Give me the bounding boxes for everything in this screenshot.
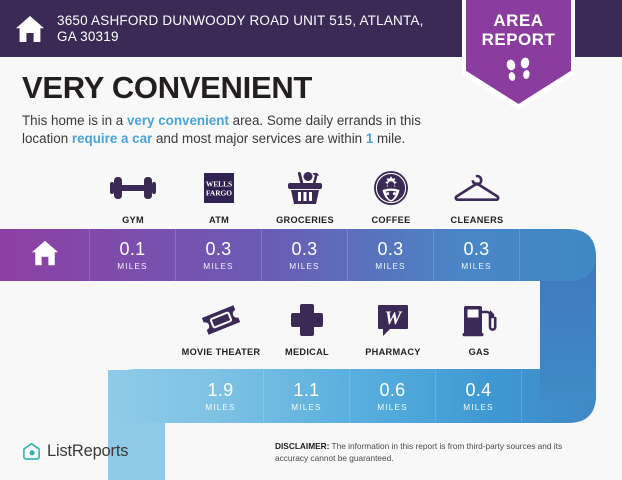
distance-value: 0.1	[120, 240, 146, 259]
row2-value-row: 1.9 MILES 1.1 MILES 0.6 MILES 0.4 MILES	[178, 370, 522, 422]
listreports-logo-icon	[22, 442, 41, 461]
category-pharmacy[interactable]: W PHARMACY	[350, 300, 436, 357]
category-label: ATM	[209, 215, 229, 225]
badge-line-2: REPORT	[466, 30, 571, 49]
distance-unit: MILES	[377, 402, 407, 412]
distance-cell-atm: 0.3 MILES	[176, 229, 262, 281]
hanger-icon	[453, 168, 501, 208]
distance-unit: MILES	[461, 261, 491, 271]
home-icon	[30, 238, 60, 273]
category-label: GROCERIES	[276, 215, 334, 225]
distance-unit: MILES	[205, 402, 235, 412]
category-label: COFFEE	[371, 215, 410, 225]
distance-cell-cleaners: 0.3 MILES	[434, 229, 520, 281]
category-label: MOVIE THEATER	[182, 347, 261, 357]
distance-unit: MILES	[203, 261, 233, 271]
dumbbell-icon	[109, 168, 157, 208]
svg-text:FARGO: FARGO	[206, 189, 232, 198]
listreports-logo-text: ListReports	[47, 442, 128, 461]
distance-cell-gas: 0.4 MILES	[436, 370, 522, 422]
svg-text:WELLS: WELLS	[206, 180, 232, 189]
disclaimer-label: DISCLAIMER:	[275, 441, 329, 451]
category-gym[interactable]: GYM	[90, 168, 176, 225]
starbucks-icon	[373, 168, 409, 208]
distance-cell-pharmacy: 0.6 MILES	[350, 370, 436, 422]
distance-unit: MILES	[117, 261, 147, 271]
walgreens-icon: W	[376, 300, 410, 340]
category-label: GAS	[469, 347, 490, 357]
distance-value: 0.4	[466, 381, 492, 400]
medical-cross-icon	[289, 300, 325, 340]
distance-value: 0.6	[380, 381, 406, 400]
category-label: GYM	[122, 215, 144, 225]
category-gas[interactable]: GAS	[436, 300, 522, 357]
shopping-basket-icon	[285, 168, 325, 208]
row2-icon-row: MOVIE THEATER MEDICAL W PHARMACY	[178, 300, 522, 357]
badge-title: AREA REPORT	[466, 11, 571, 49]
row1-icon-row: GYM WELLS FARGO ATM	[90, 168, 520, 225]
category-cleaners[interactable]: CLEANERS	[434, 168, 520, 225]
svg-text:W: W	[385, 308, 403, 329]
distance-value: 0.3	[378, 240, 404, 259]
distance-cell-gym: 0.1 MILES	[90, 229, 176, 281]
distance-cell-coffee: 0.3 MILES	[348, 229, 434, 281]
category-groceries[interactable]: GROCERIES	[262, 168, 348, 225]
disclaimer: DISCLAIMER: The information in this repo…	[275, 441, 595, 464]
gas-pump-icon	[461, 300, 497, 340]
distance-cell-movie-theater: 1.9 MILES	[178, 370, 264, 422]
distance-value: 0.3	[206, 240, 232, 259]
movie-ticket-icon	[199, 300, 243, 340]
category-movie-theater[interactable]: MOVIE THEATER	[178, 300, 264, 357]
distance-value: 0.3	[292, 240, 318, 259]
category-label: PHARMACY	[365, 347, 420, 357]
listreports-logo[interactable]: ListReports	[22, 442, 128, 461]
distance-unit: MILES	[463, 402, 493, 412]
distance-unit: MILES	[289, 261, 319, 271]
category-label: MEDICAL	[285, 347, 329, 357]
distance-unit: MILES	[375, 261, 405, 271]
category-coffee[interactable]: COFFEE	[348, 168, 434, 225]
category-label: CLEANERS	[451, 215, 504, 225]
area-report-page: 3650 ASHFORD DUNWOODY ROAD UNIT 515, ATL…	[0, 0, 622, 480]
distance-cell-medical: 1.1 MILES	[264, 370, 350, 422]
distance-cell-groceries: 0.3 MILES	[262, 229, 348, 281]
home-marker-cell	[0, 229, 90, 281]
distance-value: 0.3	[464, 240, 490, 259]
category-atm[interactable]: WELLS FARGO ATM	[176, 168, 262, 225]
row1-value-row: 0.1 MILES 0.3 MILES 0.3 MILES 0.3 MILES …	[0, 229, 520, 281]
wells-fargo-icon: WELLS FARGO	[202, 168, 236, 208]
distance-value: 1.9	[208, 381, 234, 400]
distance-unit: MILES	[291, 402, 321, 412]
category-medical[interactable]: MEDICAL	[264, 300, 350, 357]
distance-value: 1.1	[294, 381, 320, 400]
badge-line-1: AREA	[466, 11, 571, 30]
